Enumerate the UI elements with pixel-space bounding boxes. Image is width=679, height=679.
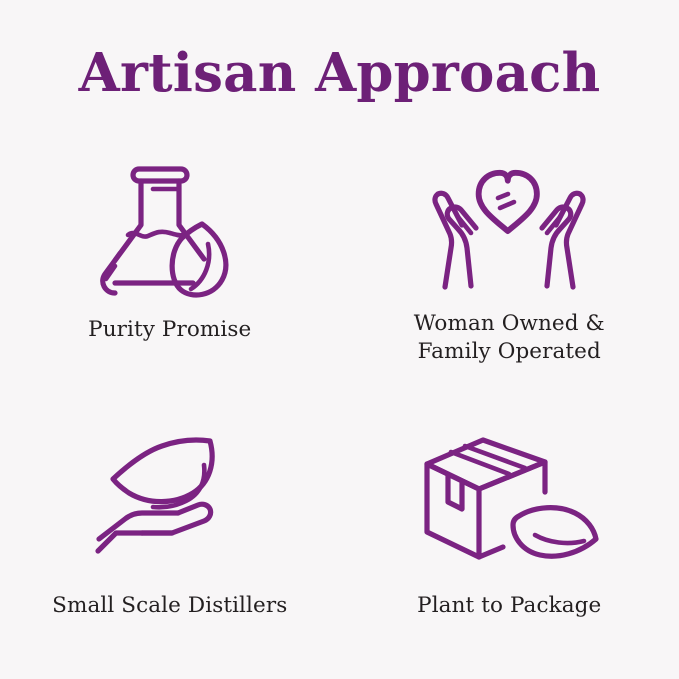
feature-caption: Plant to Package (417, 592, 601, 620)
feature-item-small-scale-distillers: Small Scale Distillers (0, 400, 340, 650)
page-title-wrapper: Artisan Approach (0, 44, 679, 102)
hands-heart-icon (424, 158, 594, 298)
flask-leaf-icon (85, 154, 255, 294)
feature-caption: Small Scale Distillers (52, 592, 287, 620)
feature-grid: Purity Promise (0, 150, 679, 650)
package-box-leaf-icon (424, 426, 594, 566)
feature-caption-line-1: Plant to Package (417, 593, 601, 618)
feature-caption-line-1: Purity Promise (88, 317, 251, 342)
feature-item-plant-to-package: Plant to Package (340, 400, 679, 650)
hand-leaf-icon (85, 426, 255, 566)
feature-caption-line-2: Family Operated (414, 338, 605, 366)
feature-caption-line-1: Small Scale Distillers (52, 593, 287, 618)
feature-caption-line-1: Woman Owned & (414, 310, 605, 338)
feature-item-purity-promise: Purity Promise (0, 150, 340, 400)
artisan-approach-infographic: Artisan Approach (0, 0, 679, 679)
feature-item-woman-owned: Woman Owned & Family Operated (340, 150, 679, 400)
page-title: Artisan Approach (0, 44, 679, 102)
feature-caption: Purity Promise (88, 316, 251, 344)
feature-caption: Woman Owned & Family Operated (414, 310, 605, 367)
